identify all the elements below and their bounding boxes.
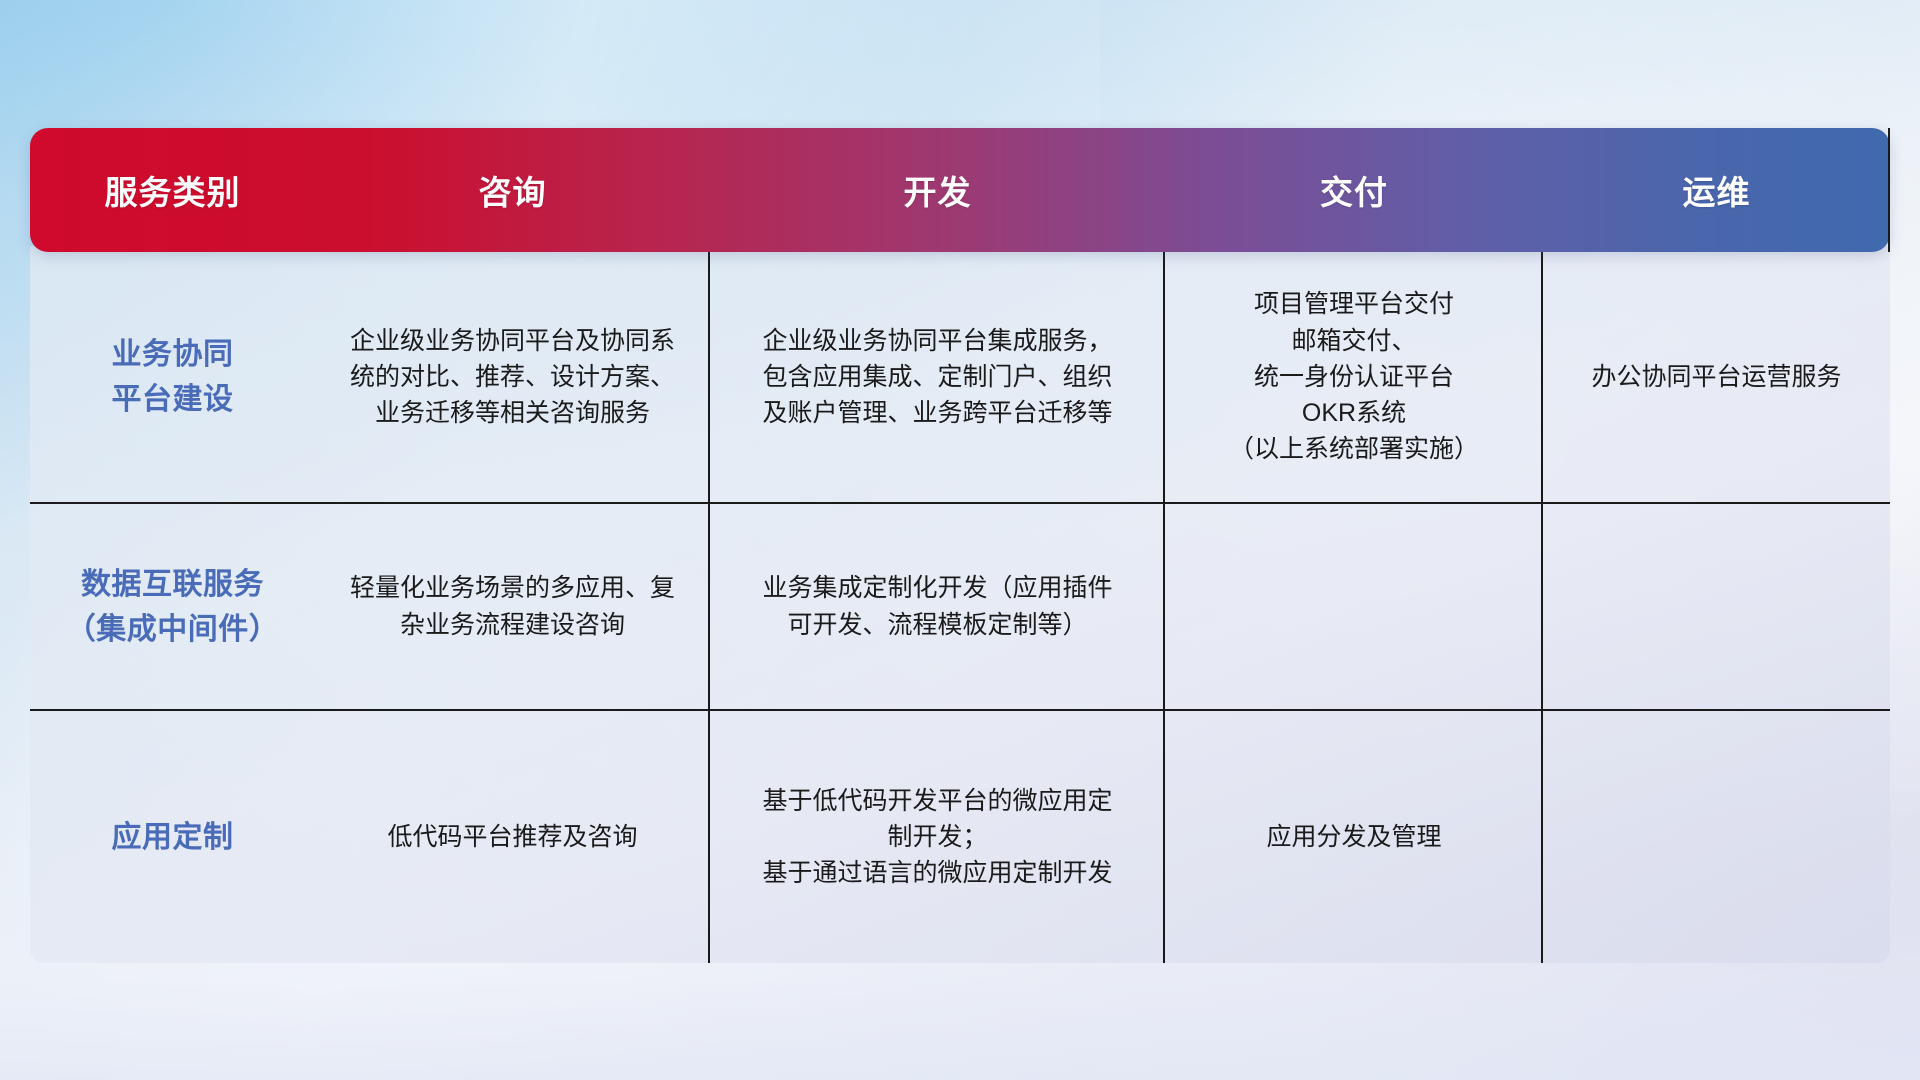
row-category-label: 应用定制 bbox=[30, 711, 315, 963]
service-matrix-table: 服务类别 咨询 开发 交付 运维 业务协同 平台建设 企业级业务协同平台及协同系… bbox=[30, 128, 1890, 963]
cell-consulting: 低代码平台推荐及咨询 bbox=[315, 711, 710, 963]
cell-consulting: 轻量化业务场景的多应用、复 杂业务流程建设咨询 bbox=[315, 504, 710, 709]
cell-development: 企业级业务协同平台集成服务， 包含应用集成、定制门户、组织 及账户管理、业务跨平… bbox=[710, 252, 1165, 502]
cell-operations bbox=[1543, 504, 1890, 709]
column-header-operations: 运维 bbox=[1543, 166, 1890, 214]
cell-operations bbox=[1543, 711, 1890, 963]
table-header-row: 服务类别 咨询 开发 交付 运维 bbox=[30, 128, 1890, 252]
table-row: 应用定制 低代码平台推荐及咨询 基于低代码开发平台的微应用定 制开发； 基于通过… bbox=[30, 709, 1890, 963]
cell-development: 业务集成定制化开发（应用插件 可开发、流程模板定制等） bbox=[710, 504, 1165, 709]
column-header-consulting: 咨询 bbox=[315, 166, 710, 214]
cell-delivery bbox=[1165, 504, 1543, 709]
row-category-label: 数据互联服务 （集成中间件） bbox=[30, 504, 315, 709]
table-body: 业务协同 平台建设 企业级业务协同平台及协同系 统的对比、推荐、设计方案、 业务… bbox=[30, 246, 1890, 963]
cell-development: 基于低代码开发平台的微应用定 制开发； 基于通过语言的微应用定制开发 bbox=[710, 711, 1165, 963]
cell-consulting: 企业级业务协同平台及协同系 统的对比、推荐、设计方案、 业务迁移等相关咨询服务 bbox=[315, 252, 710, 502]
table-row: 业务协同 平台建设 企业级业务协同平台及协同系 统的对比、推荐、设计方案、 业务… bbox=[30, 252, 1890, 502]
column-header-delivery: 交付 bbox=[1165, 166, 1543, 214]
cell-operations: 办公协同平台运营服务 bbox=[1543, 252, 1890, 502]
row-category-label: 业务协同 平台建设 bbox=[30, 252, 315, 502]
column-header-service-category: 服务类别 bbox=[30, 166, 315, 214]
table-row: 数据互联服务 （集成中间件） 轻量化业务场景的多应用、复 杂业务流程建设咨询 业… bbox=[30, 502, 1890, 709]
cell-delivery: 应用分发及管理 bbox=[1165, 711, 1543, 963]
cell-delivery: 项目管理平台交付 邮箱交付、 统一身份认证平台 OKR系统 （以上系统部署实施） bbox=[1165, 252, 1543, 502]
column-header-development: 开发 bbox=[710, 166, 1165, 214]
